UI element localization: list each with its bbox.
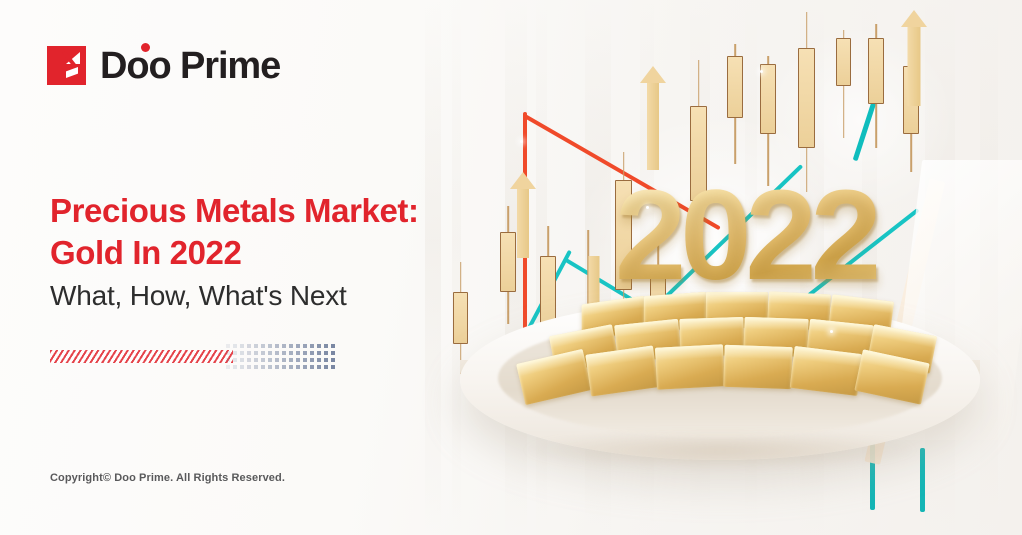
podium-shadow (520, 430, 920, 470)
sparkle-icon (646, 206, 649, 209)
gold-bar (655, 344, 725, 390)
hero-illustration: 2022 (400, 0, 1022, 535)
brand-name: Doo Prime (100, 47, 280, 85)
marketing-banner: Doo Prime Precious Metals Market: Gold I… (0, 0, 1022, 535)
arrow-up-icon (510, 172, 536, 258)
sparkle-icon (760, 70, 763, 73)
trend-line-teal-vertical-b (920, 448, 925, 512)
arrow-up-icon (640, 66, 666, 170)
candlestick (727, 44, 743, 164)
sparkle-icon (830, 330, 833, 333)
decorative-divider (50, 344, 340, 368)
copyright-notice: Copyright© Doo Prime. All Rights Reserve… (50, 472, 285, 484)
sparkle-icon (520, 140, 523, 143)
candlestick (836, 30, 851, 138)
logo-accent-dot-icon (141, 43, 150, 52)
arrow-up-icon (900, 10, 928, 106)
candlestick (868, 24, 884, 148)
doo-prime-flag-mark-icon (47, 46, 86, 85)
brand-logo[interactable]: Doo Prime (47, 46, 280, 85)
divider-hatch-bar (50, 350, 233, 363)
candlestick (453, 262, 468, 374)
divider-dot-grid (226, 344, 341, 368)
gold-bar (723, 345, 792, 389)
hero-year-label: 2022 (615, 172, 876, 300)
gold-bar (790, 346, 863, 396)
